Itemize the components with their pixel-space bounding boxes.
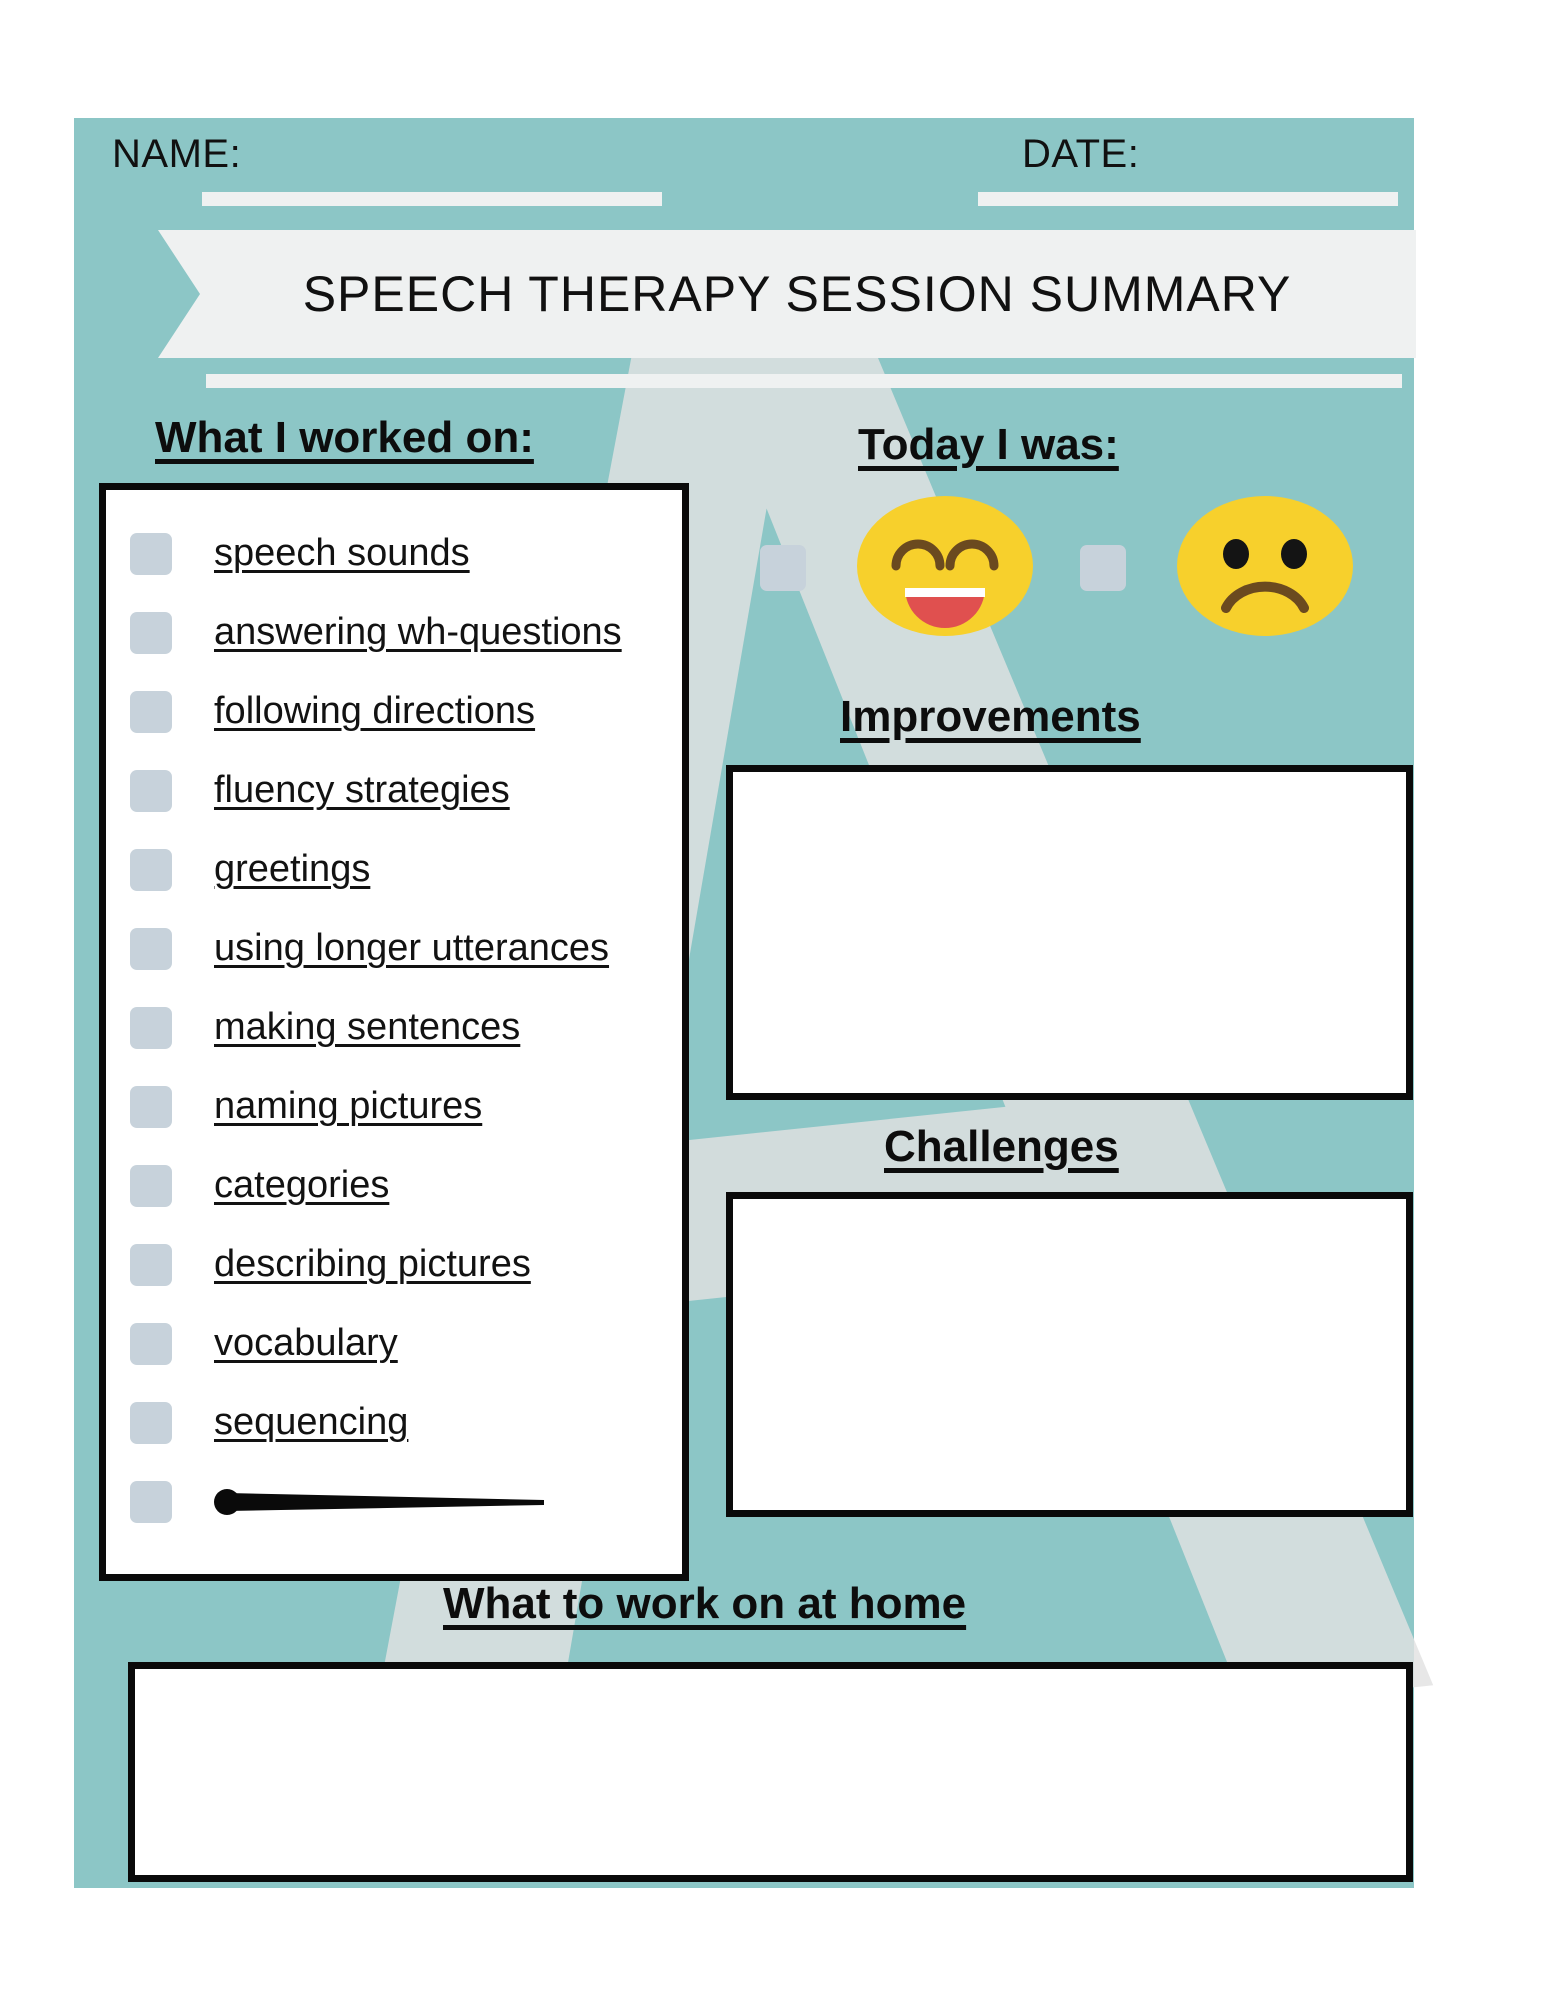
worked-on-checklist: speech soundsanswering wh-questionsfollo…	[99, 483, 689, 1581]
checklist-item-label: fluency strategies	[214, 769, 510, 812]
date-label: DATE:	[1022, 132, 1139, 177]
checklist-item-label: using longer utterances	[214, 927, 609, 970]
challenges-textbox[interactable]	[726, 1192, 1413, 1517]
work-at-home-textbox[interactable]	[128, 1662, 1413, 1882]
checklist-item-label: naming pictures	[214, 1085, 482, 1128]
checklist-item[interactable]: naming pictures	[106, 1067, 682, 1146]
date-input-line[interactable]	[978, 192, 1398, 206]
heading-what-i-worked-on: What I worked on:	[155, 413, 534, 463]
checkbox[interactable]	[130, 1165, 172, 1207]
checklist-item[interactable]: categories	[106, 1146, 682, 1225]
title-banner-underbar	[206, 374, 1402, 388]
checklist-item[interactable]: greetings	[106, 830, 682, 909]
mood-checkbox-happy[interactable]	[760, 545, 806, 591]
name-label: NAME:	[112, 132, 241, 177]
checkbox[interactable]	[130, 1007, 172, 1049]
checklist-item[interactable]: vocabulary	[106, 1304, 682, 1383]
checkbox[interactable]	[130, 533, 172, 575]
checkbox[interactable]	[130, 1402, 172, 1444]
happy-face-emoji[interactable]	[854, 496, 1036, 641]
checkbox[interactable]	[130, 1086, 172, 1128]
checklist-item[interactable]: describing pictures	[106, 1225, 682, 1304]
worksheet-page: NAME: DATE: SPEECH THERAPY SESSION SUMMA…	[0, 0, 1556, 2000]
checkbox[interactable]	[130, 1244, 172, 1286]
write-in-line[interactable]	[214, 1489, 572, 1515]
checkbox[interactable]	[130, 770, 172, 812]
checklist-item[interactable]: fluency strategies	[106, 751, 682, 830]
checklist-item[interactable]: using longer utterances	[106, 909, 682, 988]
sad-face-emoji[interactable]	[1174, 496, 1356, 641]
name-input-line[interactable]	[202, 192, 662, 206]
heading-challenges: Challenges	[884, 1122, 1119, 1172]
checklist-item[interactable]: answering wh-questions	[106, 593, 682, 672]
heading-today-i-was: Today I was:	[858, 420, 1119, 470]
checklist-item[interactable]: making sentences	[106, 988, 682, 1067]
checklist-item-label: speech sounds	[214, 532, 470, 575]
checklist-item-label: describing pictures	[214, 1243, 531, 1286]
checklist-item-label: categories	[214, 1164, 389, 1207]
checklist-item[interactable]: speech sounds	[106, 514, 682, 593]
checklist-item[interactable]: sequencing	[106, 1383, 682, 1462]
checklist-item[interactable]: following directions	[106, 672, 682, 751]
checklist-item-label: answering wh-questions	[214, 611, 622, 654]
mood-selector	[760, 498, 1380, 638]
checklist-item-label: sequencing	[214, 1401, 408, 1444]
mood-checkbox-sad[interactable]	[1080, 545, 1126, 591]
heading-what-to-work-on-at-home: What to work on at home	[443, 1579, 966, 1629]
improvements-textbox[interactable]	[726, 765, 1413, 1100]
title-banner	[158, 230, 1416, 358]
checkbox[interactable]	[130, 691, 172, 733]
checklist-item-label: making sentences	[214, 1006, 520, 1049]
checklist-write-in-row[interactable]	[106, 1462, 682, 1541]
pen-stroke-icon	[214, 1489, 544, 1515]
checkbox[interactable]	[130, 1323, 172, 1365]
checkbox[interactable]	[130, 612, 172, 654]
heading-improvements: Improvements	[840, 692, 1141, 742]
checklist-rows: speech soundsanswering wh-questionsfollo…	[106, 514, 682, 1462]
checkbox[interactable]	[130, 1481, 172, 1523]
checklist-item-label: vocabulary	[214, 1322, 398, 1365]
checklist-item-label: following directions	[214, 690, 535, 733]
checkbox[interactable]	[130, 849, 172, 891]
checkbox[interactable]	[130, 928, 172, 970]
checklist-item-label: greetings	[214, 848, 370, 891]
